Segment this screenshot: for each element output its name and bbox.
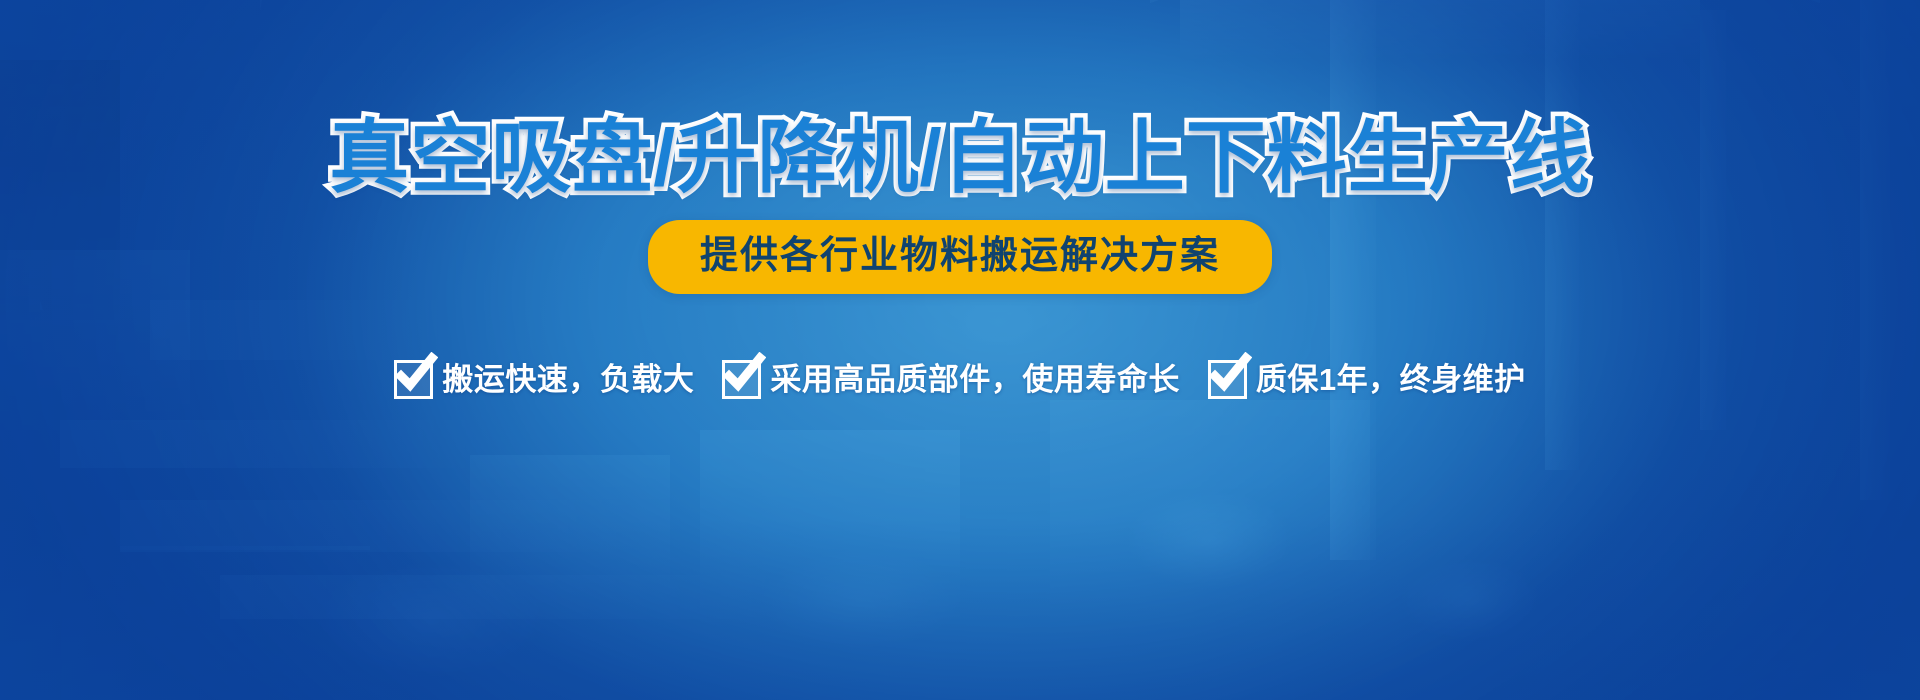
checkbox-check-icon [394,360,433,399]
banner-headline: 真空吸盘/升降机/自动上下料生产线 [329,118,1590,198]
banner-subtitle-pill: 提供各行业物料搬运解决方案 [648,220,1272,294]
promo-banner: 真空吸盘/升降机/自动上下料生产线 提供各行业物料搬运解决方案 搬运快速，负载大… [0,0,1920,700]
feature-list: 搬运快速，负载大 采用高品质部件，使用寿命长 质保1年，终身维护 [394,360,1525,399]
feature-label: 搬运快速，负载大 [442,364,694,395]
feature-label: 质保1年，终身维护 [1256,364,1526,395]
checkbox-check-icon [1208,360,1247,399]
feature-item: 采用高品质部件，使用寿命长 [722,360,1180,399]
feature-label: 采用高品质部件，使用寿命长 [770,364,1180,395]
feature-item: 质保1年，终身维护 [1208,360,1526,399]
feature-item: 搬运快速，负载大 [394,360,694,399]
checkbox-check-icon [722,360,761,399]
banner-content: 真空吸盘/升降机/自动上下料生产线 提供各行业物料搬运解决方案 搬运快速，负载大… [0,0,1920,700]
